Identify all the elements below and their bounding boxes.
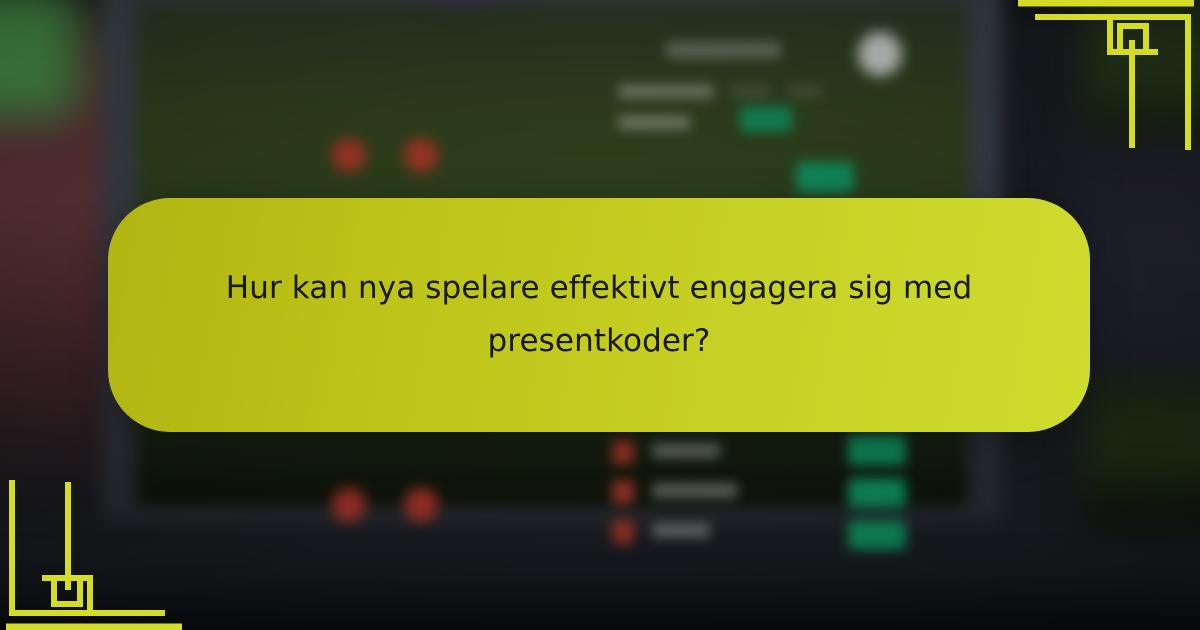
question-card: Hur kan nya spelare effektivt engagera s… — [108, 198, 1090, 432]
screenshot-root: Hur kan nya spelare effektivt engagera s… — [0, 0, 1200, 630]
question-text: Hur kan nya spelare effektivt engagera s… — [219, 262, 979, 369]
